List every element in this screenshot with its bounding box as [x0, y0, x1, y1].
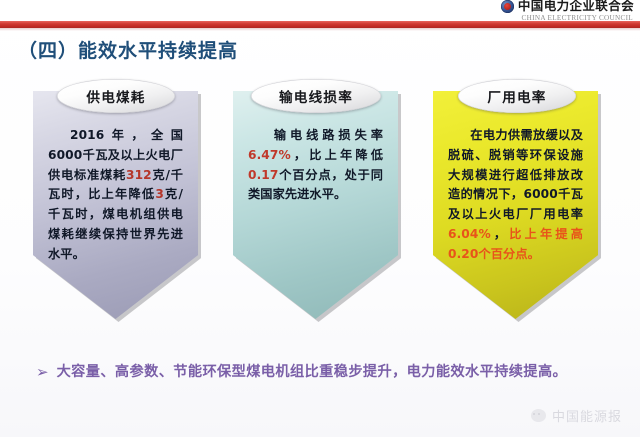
card-text-auxiliary-power-rate: 在电力供需放缓以及脱硫、脱销等环保设施大规模进行超低排放改造的情况下，6000千…	[438, 126, 593, 264]
slide-canvas: 中国电力企业联合会 CHINA ELECTRICITY COUNCIL （四）能…	[0, 0, 640, 437]
cec-logo: 中国电力企业联合会 CHINA ELECTRICITY COUNCIL	[501, 0, 634, 22]
card-badge-coal-consumption: 供电煤耗	[57, 79, 175, 113]
card-text-coal-consumption: 2016年，全国6000千瓦及以上火电厂供电标准煤耗312克/千瓦时，比上年降低…	[38, 126, 193, 264]
cec-seal-icon	[501, 0, 514, 13]
seg-text: ，比上年降低	[291, 148, 383, 162]
page-title: （四）能效水平持续提高	[18, 36, 238, 63]
seg-highlight-312: 312	[126, 168, 152, 182]
cec-logo-row: 中国电力企业联合会	[501, 0, 634, 13]
card-badge-label: 供电煤耗	[86, 86, 145, 106]
cec-org-name-cn: 中国电力企业联合会	[518, 0, 634, 13]
seg-text: 在电力供需放缓以及脱硫、脱销等环保设施大规模进行超低排放改造的情况下，6000千…	[448, 128, 583, 221]
card-badge-auxiliary-power-rate: 厂用电率	[458, 79, 576, 113]
seg-highlight-604: 6.04%	[448, 227, 491, 241]
summary-bullet-text: 大容量、高参数、节能环保型煤电机组比重稳步提升，电力能效水平持续提高。	[57, 362, 568, 383]
card-badge-label: 厂用电率	[487, 86, 546, 106]
seg-text: ，	[491, 227, 509, 241]
card-badge-label: 输电线损率	[279, 86, 353, 106]
seg-highlight-017: 0.17	[248, 168, 278, 182]
card-text-line-loss-rate: 输电线路损失率6.47%，比上年降低0.17个百分点，处于同类国家先进水平。	[238, 126, 393, 205]
arrow-bullet-icon: ➢	[36, 362, 49, 384]
header-divider-shadow	[0, 28, 640, 31]
watermark-label: 中国能源报	[552, 406, 622, 425]
seg-highlight-3: 3	[155, 187, 164, 201]
card-badge-line-loss-rate: 输电线损率	[251, 79, 381, 113]
header-red-divider	[0, 21, 640, 28]
seg-text: 输电线路损失率	[270, 128, 383, 142]
summary-bullet: ➢ 大容量、高参数、节能环保型煤电机组比重稳步提升，电力能效水平持续提高。	[36, 362, 616, 384]
bird-mascot-icon	[531, 409, 546, 422]
seg-highlight-647: 6.47%	[248, 148, 291, 162]
watermark: 中国能源报	[531, 406, 622, 425]
